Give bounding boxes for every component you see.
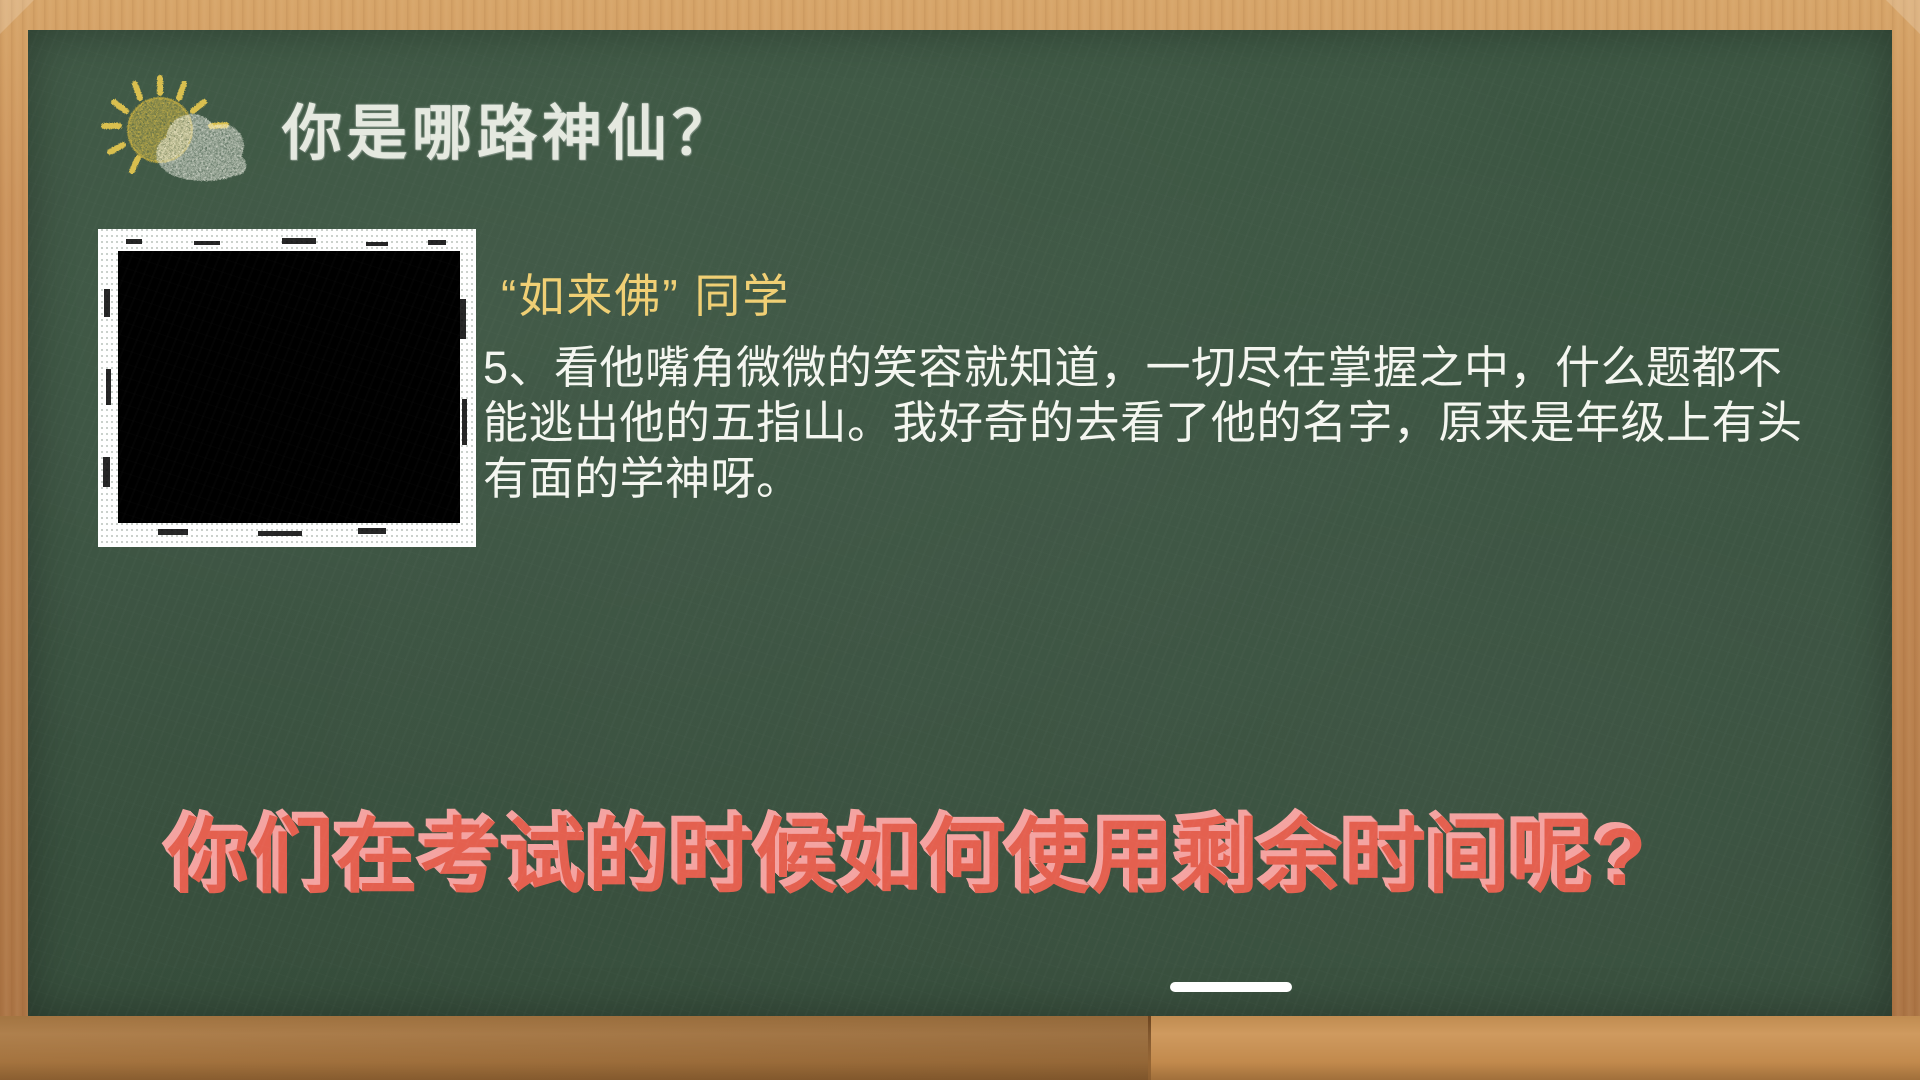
photo-placeholder (118, 251, 460, 523)
chalk-speckle (460, 299, 466, 339)
question-headline: 你们在考试的时候如何使用剩余时间呢? (168, 790, 1668, 909)
student-nickname: “如来佛” 同学 (501, 260, 1813, 326)
chalk-speckle (158, 529, 188, 535)
sun-cloud-icon (80, 68, 258, 188)
slide-root: 你是哪路神仙？ “如来佛” 同学 5、看他嘴角微微的笑容就知道，一切尽在掌握之中… (0, 0, 1920, 1080)
chalk-speckle (104, 289, 110, 317)
chalkboard: 你是哪路神仙？ “如来佛” 同学 5、看他嘴角微微的笑容就知道，一切尽在掌握之中… (28, 30, 1892, 1016)
header: 你是哪路神仙？ (80, 68, 737, 188)
chalk-speckle (106, 369, 111, 405)
photo-frame (98, 229, 476, 547)
frame-miter-top-left (0, 0, 34, 34)
chalk-speckle (358, 528, 386, 534)
chalk-speckle (194, 241, 220, 245)
page-title: 你是哪路神仙？ (282, 85, 737, 172)
chalk-speckle (366, 242, 388, 246)
chalk-ledge (0, 1016, 1920, 1080)
content-column: “如来佛” 同学 5、看他嘴角微微的笑容就知道，一切尽在掌握之中，什么题都不能逃… (483, 260, 1813, 506)
body-paragraph: 5、看他嘴角微微的笑容就知道，一切尽在掌握之中，什么题都不能逃出他的五指山。我好… (483, 340, 1813, 506)
chalk-speckle (282, 238, 316, 244)
chalk-speckle (258, 531, 302, 536)
chalk-speckle (428, 240, 446, 245)
ledge-seam (1148, 1016, 1151, 1080)
chalk-speckle (126, 239, 142, 244)
frame-miter-top-right (1886, 0, 1920, 34)
chalk-speckle (103, 457, 110, 487)
ledge-shading (0, 1016, 1148, 1080)
decorative-underline (1170, 982, 1292, 992)
chalk-speckle (462, 399, 467, 445)
